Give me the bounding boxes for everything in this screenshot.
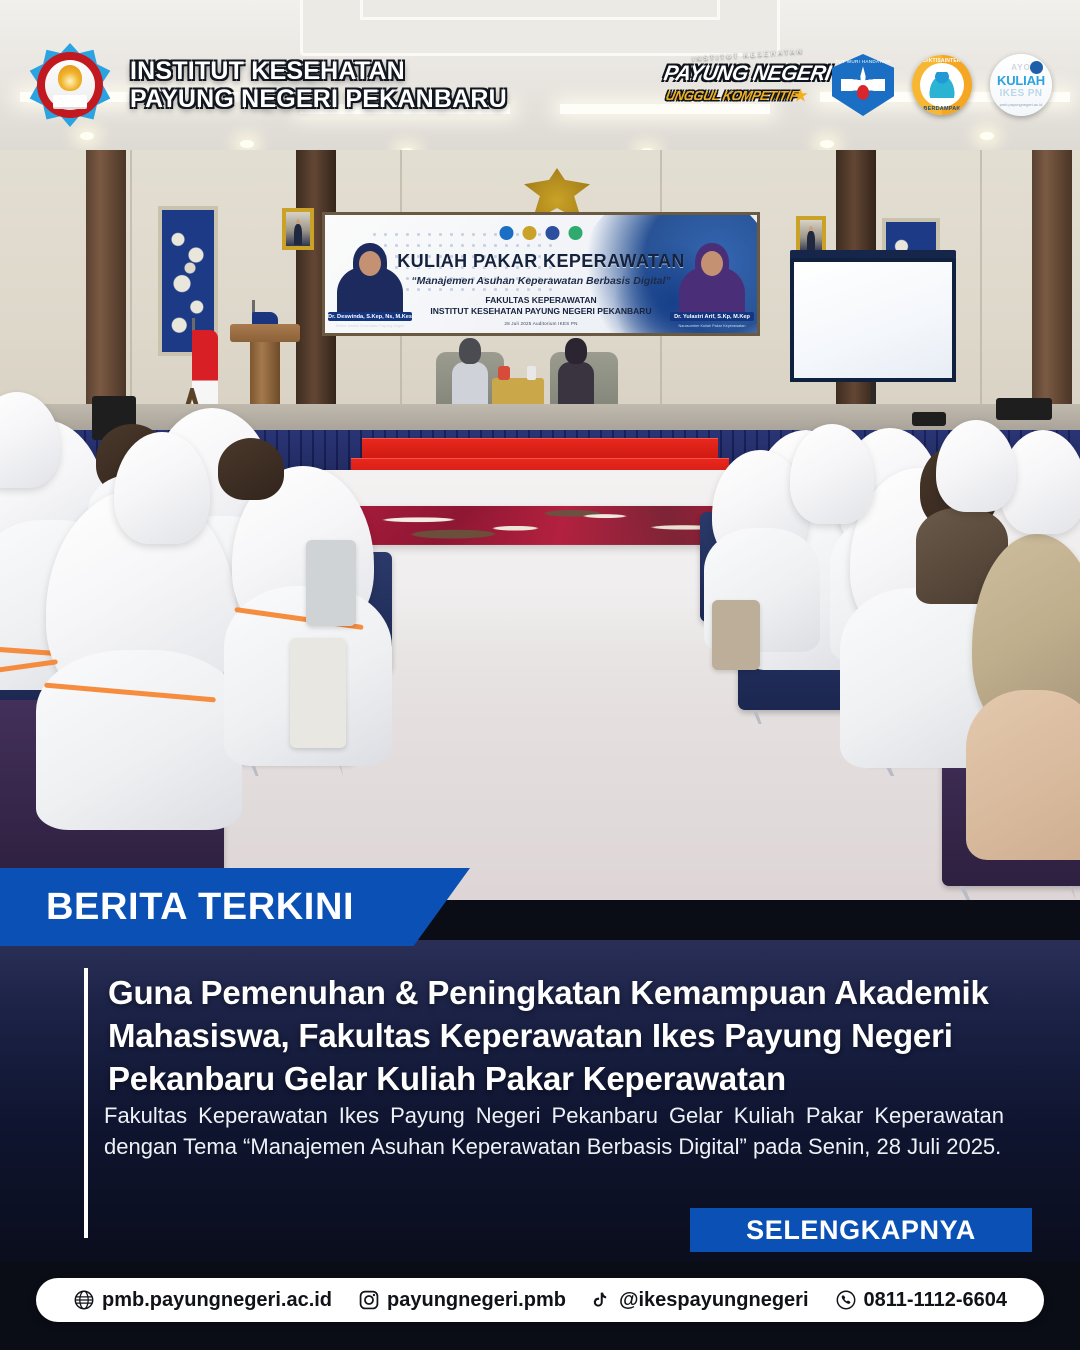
ayo-kuliah-badge-icon: AYO KULIAH IKES PN pmb.payungnegeri.ac.i… [990, 54, 1052, 116]
contact-instagram[interactable]: payungnegeri.pmb [358, 1289, 566, 1312]
badge-url-label: pmb.payungnegeri.ac.id [990, 102, 1052, 107]
news-poster: KULIAH PAKAR KEPERAWATAN “Manajemen Asuh… [0, 0, 1080, 1350]
ikes-payung-negeri-logo-icon [28, 43, 112, 127]
news-headline: Guna Pemenuhan & Peningkatan Kemampuan A… [108, 972, 1038, 1101]
audience-bag [712, 600, 760, 670]
wordmark-bottom-text: UNGGUL KOMPETITIF [664, 88, 817, 103]
contact-tiktok[interactable]: @ikespayungnegeri [592, 1289, 809, 1312]
instagram-icon [358, 1289, 380, 1311]
globe-icon [73, 1289, 95, 1311]
wordmark-top-text: PAYUNG NEGERI [662, 62, 816, 86]
diktisaintek-berdampak-icon: DIKTISAINTEK BERDAMPAK [912, 55, 972, 115]
audience-bag [306, 540, 356, 626]
institution-name: INSTITUT KESEHATAN PAYUNG NEGERI PEKANBA… [130, 57, 507, 114]
contact-bar: pmb.payungnegeri.ac.id payungnegeri.pmb … [36, 1278, 1044, 1322]
phone-label: 0811-1112-6604 [864, 1289, 1008, 1312]
read-more-button[interactable]: SELENGKAPNYA [690, 1208, 1032, 1252]
wordmark-arc-text: INSTITUT KESEHATAN [692, 48, 804, 63]
audience-bag [290, 638, 346, 748]
payung-negeri-wordmark-icon: INSTITUT KESEHATAN PAYUNG NEGERI UNGGUL … [664, 54, 814, 116]
tiktok-label: @ikespayungnegeri [619, 1289, 809, 1312]
kemdikbud-label: TUT WURI HANDAYANI [832, 59, 894, 64]
poster-header: INSTITUT KESEHATAN PAYUNG NEGERI PEKANBA… [0, 0, 1080, 170]
tiktok-note-icon [592, 1289, 612, 1311]
website-label: pmb.payungnegeri.ac.id [102, 1289, 332, 1312]
read-more-label: SELENGKAPNYA [746, 1215, 976, 1246]
diktisaintek-bottom-label: BERDAMPAK [912, 106, 972, 112]
accent-divider [84, 968, 88, 1238]
kemdikbud-tut-wuri-handayani-icon: TUT WURI HANDAYANI [832, 54, 894, 116]
instagram-label: payungnegeri.pmb [387, 1289, 566, 1312]
phone-icon [835, 1289, 857, 1311]
diktisaintek-top-label: DIKTISAINTEK [912, 58, 972, 64]
news-category-tab: BERITA TERKINI [0, 868, 470, 946]
institution-name-line2: PAYUNG NEGERI PEKANBARU [130, 85, 507, 114]
ikes-pn-label: IKES PN [990, 88, 1052, 99]
ayo-label: AYO [990, 63, 1052, 72]
institution-name-line1: INSTITUT KESEHATAN [130, 57, 507, 86]
contact-website[interactable]: pmb.payungnegeri.ac.id [73, 1289, 332, 1312]
kuliah-label: KULIAH [990, 73, 1052, 88]
news-summary: Fakultas Keperawatan Ikes Payung Negeri … [104, 1100, 1004, 1162]
news-category-label: BERITA TERKINI [46, 886, 354, 929]
partner-logos: INSTITUT KESEHATAN PAYUNG NEGERI UNGGUL … [664, 54, 1052, 116]
contact-phone[interactable]: 0811-1112-6604 [835, 1289, 1008, 1312]
